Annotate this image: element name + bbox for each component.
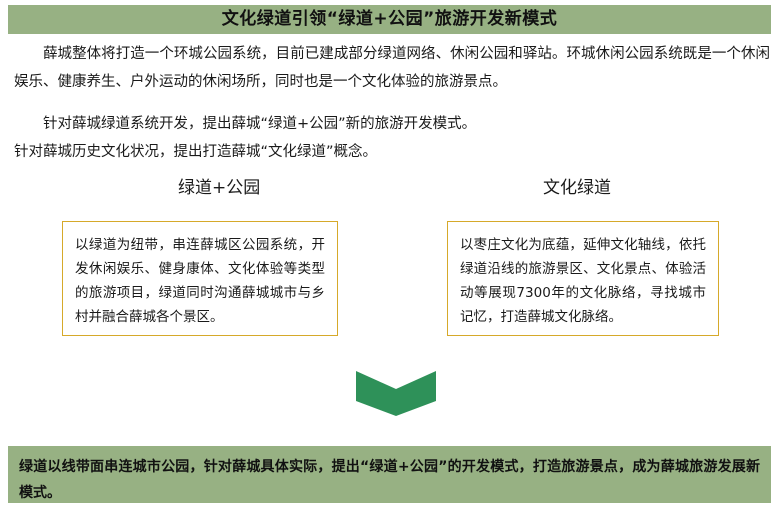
concept-box-culture-greenway: 以枣庄文化为底蕴，延伸文化轴线，依托绿道沿线的旅游景区、文化景点、体验活动等展现… [447, 221, 719, 336]
greenway-model-paragraph-block: 针对薛城绿道系统开发，提出薛城“绿道+公园”新的旅游开发模式。 [14, 110, 770, 138]
slide-canvas: 文化绿道引领“绿道+公园”旅游开发新模式 薛城整体将打造一个环城公园系统，目前已… [0, 0, 784, 510]
intro-paragraph: 薛城整体将打造一个环城公园系统，目前已建成部分绿道网络、休闲公园和驿站。环城休闲… [14, 40, 770, 96]
page-title: 文化绿道引领“绿道+公园”旅游开发新模式 [222, 11, 558, 28]
conclusion-banner: 绿道以线带面串连城市公园，针对薛城具体实际，提出“绿道+公园”的开发模式，打造旅… [8, 446, 771, 503]
column-heading-greenway-park: 绿道+公园 [178, 180, 260, 197]
concept-box-greenway-park-text: 以绿道为纽带，串连薛城区公园系统，开发休闲娱乐、健身康体、文化体验等类型的旅游项… [75, 233, 325, 329]
column-heading-culture-greenway: 文化绿道 [543, 180, 611, 197]
title-banner: 文化绿道引领“绿道+公园”旅游开发新模式 [8, 5, 771, 34]
greenway-model-paragraph: 针对薛城绿道系统开发，提出薛城“绿道+公园”新的旅游开发模式。 [14, 110, 770, 138]
intro-paragraph-block: 薛城整体将打造一个环城公园系统，目前已建成部分绿道网络、休闲公园和驿站。环城休闲… [14, 40, 770, 96]
culture-greenway-paragraph-block: 针对薛城历史文化状况，提出打造薛城“文化绿道”概念。 [14, 138, 770, 166]
chevron-down-icon [356, 371, 436, 416]
conclusion-text: 绿道以线带面串连城市公园，针对薛城具体实际，提出“绿道+公园”的开发模式，打造旅… [19, 454, 760, 506]
culture-greenway-paragraph: 针对薛城历史文化状况，提出打造薛城“文化绿道”概念。 [14, 138, 770, 166]
concept-box-greenway-park: 以绿道为纽带，串连薛城区公园系统，开发休闲娱乐、健身康体、文化体验等类型的旅游项… [62, 221, 338, 336]
concept-box-culture-greenway-text: 以枣庄文化为底蕴，延伸文化轴线，依托绿道沿线的旅游景区、文化景点、体验活动等展现… [460, 233, 706, 329]
